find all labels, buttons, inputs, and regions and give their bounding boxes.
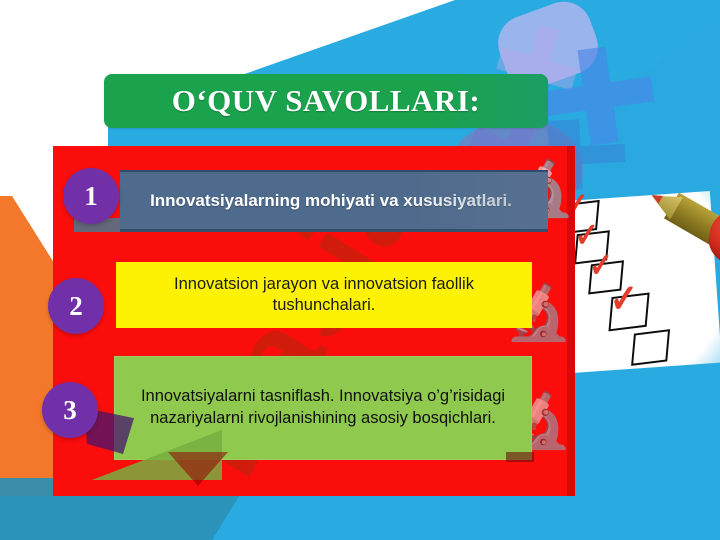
question-badge-1[interactable]: 1 — [63, 168, 119, 224]
slide-canvas: ✓ ✓ ✓ ✓ O‘QUV SAVOLLARI: 🔬 🔬 🔬 Hasia Inn… — [0, 0, 720, 540]
question-badge-3-number: 3 — [63, 395, 77, 426]
question-row-1[interactable]: Innovatsiyalarning mohiyati va xususiyat… — [114, 170, 548, 232]
red-sliver-decor — [506, 452, 534, 462]
question-badge-1-number: 1 — [84, 181, 98, 212]
question-badge-3[interactable]: 3 — [42, 382, 98, 438]
question-badge-2[interactable]: 2 — [48, 278, 104, 334]
question-1-text: Innovatsiyalarning mohiyati va xususiyat… — [114, 190, 548, 211]
question-badge-2-number: 2 — [69, 291, 83, 322]
question-2-text: Innovatsion jarayon va innovatsion faoll… — [116, 274, 532, 317]
question-row-2[interactable]: Innovatsion jarayon va innovatsion faoll… — [116, 262, 532, 328]
checkmark-icon: ✓ — [609, 279, 638, 319]
title-banner: O‘QUV SAVOLLARI: — [104, 74, 548, 128]
question-row-3[interactable]: Innovatsiyalarni tasniflash. Innovatsiya… — [114, 356, 532, 460]
checklist-photo: ✓ ✓ ✓ ✓ — [560, 191, 720, 373]
page-title: O‘QUV SAVOLLARI: — [172, 83, 481, 119]
question-3-text: Innovatsiyalarni tasniflash. Innovatsiya… — [115, 386, 531, 430]
